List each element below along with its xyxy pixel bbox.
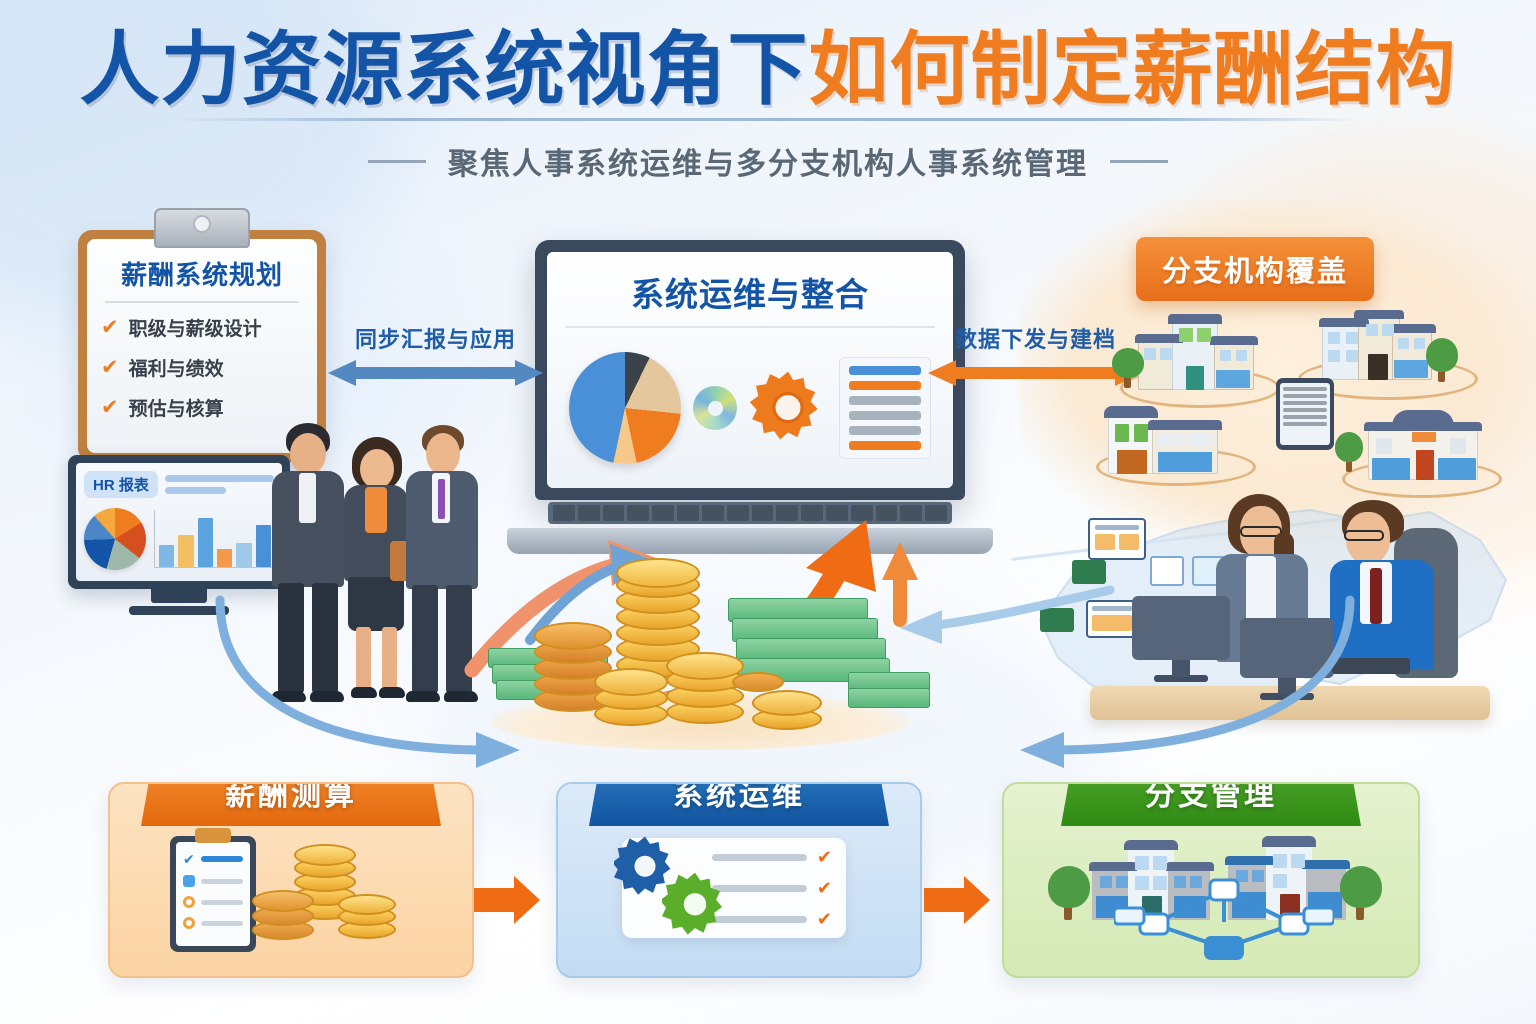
checkbox [183, 875, 195, 887]
window [1414, 338, 1425, 349]
roof [1104, 406, 1158, 418]
roof [1354, 310, 1404, 319]
branch-building [1322, 310, 1432, 380]
roof [1148, 420, 1222, 430]
sign [1412, 432, 1436, 442]
window [1394, 360, 1428, 378]
tree-foliage [1426, 338, 1458, 372]
window [1197, 328, 1211, 342]
list-row [849, 411, 921, 420]
window [1216, 370, 1250, 388]
window [1158, 452, 1212, 472]
tablet-screen [1280, 383, 1330, 445]
window [1328, 332, 1340, 344]
list-row [201, 900, 243, 905]
window [1366, 324, 1378, 336]
list-item [183, 917, 243, 929]
list-row [849, 441, 921, 450]
clipboard-item-label: 福利与绩效 [129, 354, 224, 381]
arrow-shaft [924, 888, 966, 912]
list-row [1283, 387, 1327, 391]
roof [1124, 840, 1178, 850]
window [1450, 438, 1466, 454]
list-row [1283, 415, 1327, 419]
disc-chart [693, 386, 737, 430]
window [1346, 332, 1358, 344]
panel-title: 分支管理 [1145, 782, 1277, 812]
branch-badge-label: 分支机构覆盖 [1162, 256, 1348, 288]
check-icon: ✔ [817, 910, 832, 928]
list-row [1283, 394, 1327, 398]
page-title-accent: 如何制定薪酬结构 [809, 25, 1457, 114]
coin-stack [666, 652, 744, 724]
check-icon: ✔ [817, 879, 832, 897]
clipboard-item-label: 预估与核算 [129, 394, 224, 421]
coin-stack [338, 894, 396, 942]
roof [1135, 334, 1183, 343]
window [1236, 350, 1247, 361]
panel-system-ops[interactable]: 系统运维 ✔ ✔ ✔ [556, 782, 922, 978]
list-row [849, 381, 921, 390]
head [290, 433, 326, 475]
arrow-head-right [515, 360, 543, 386]
window [1376, 438, 1392, 454]
branch-tablet [1276, 378, 1334, 450]
panel-compensation[interactable]: 薪酬测算 ✔ [108, 782, 474, 978]
clipboard-clip-icon [195, 828, 231, 843]
window [1291, 854, 1305, 868]
list-item: ✔ [712, 848, 832, 866]
panel-title: 薪酬测算 [225, 782, 357, 812]
window [1382, 324, 1394, 336]
roof [1388, 324, 1436, 333]
tree-foliage [1048, 866, 1090, 908]
arrow-shaft [474, 888, 516, 912]
list-row [849, 366, 921, 375]
window [1273, 854, 1287, 868]
door [1186, 366, 1204, 390]
window [1135, 856, 1149, 870]
panel-header: 系统运维 [589, 782, 889, 826]
window [1160, 348, 1172, 360]
left-connector: 同步汇报与应用 [328, 322, 543, 386]
roof [1166, 862, 1214, 871]
check-icon: ✔ [817, 848, 832, 866]
window [1188, 434, 1212, 446]
list-row [849, 396, 921, 405]
network-diagram [1114, 878, 1334, 962]
gear-icon [749, 367, 827, 450]
list-row [712, 854, 807, 861]
arrow-head-left [928, 360, 956, 386]
coin-top [616, 558, 700, 588]
roof [1319, 318, 1369, 327]
coin-top [534, 622, 612, 650]
page-header: 人力资源系统视角下如何制定薪酬结构 聚焦人事系统运维与多分支机构人事系统管理 [0, 28, 1536, 183]
window [1328, 350, 1340, 362]
subtitle-dash-right [1110, 160, 1168, 163]
window [1179, 328, 1193, 342]
list-item: ✔ [712, 879, 832, 897]
subtitle-row: 聚焦人事系统运维与多分支机构人事系统管理 [0, 139, 1536, 183]
tree-foliage [1112, 348, 1144, 378]
coin-top [666, 652, 744, 680]
laptop-screen: 系统运维与整合 [547, 252, 953, 488]
laptop-screen-title: 系统运维与整合 [565, 268, 935, 316]
list-row [201, 856, 243, 862]
tree-foliage [1340, 866, 1382, 908]
list-item: ✔ 职级与薪级设计 [101, 314, 303, 341]
laptop-divider [565, 326, 935, 328]
arrow-head-icon [964, 876, 990, 924]
laptop-screen-body [565, 340, 935, 476]
panel-header: 薪酬测算 [141, 782, 441, 826]
window [1134, 424, 1148, 442]
coin [732, 672, 784, 692]
radio [183, 896, 195, 908]
page-subtitle: 聚焦人事系统运维与多分支机构人事系统管理 [448, 139, 1088, 183]
branch-building [1108, 402, 1218, 474]
list-row [1283, 408, 1327, 412]
coin-top [294, 844, 356, 866]
arrow-shaft [356, 367, 515, 379]
pie-chart [569, 352, 681, 464]
roof [1168, 314, 1222, 324]
roof [1262, 836, 1316, 847]
panel-title: 系统运维 [673, 782, 805, 812]
radio [183, 917, 195, 929]
window [1158, 434, 1182, 446]
arrow-head-icon [514, 876, 540, 924]
coin-top [594, 668, 668, 696]
double-arrow-icon [328, 360, 543, 386]
list-row [201, 921, 243, 926]
list-item [183, 875, 243, 887]
panel-branch-mgmt[interactable]: 分支管理 [1002, 782, 1420, 978]
list-item: ✔ [183, 852, 243, 866]
panel-artwork: ✔ ✔ ✔ [558, 826, 920, 966]
coin-stack [252, 888, 314, 942]
clipboard-divider [105, 301, 299, 303]
list-item: ✔ 福利与绩效 [101, 354, 303, 381]
roof [1210, 336, 1258, 345]
window [1398, 338, 1409, 349]
check-icon: ✔ [101, 317, 119, 338]
branch-coverage-badge: 分支机构覆盖 [1136, 237, 1374, 301]
panel-artwork [1004, 826, 1418, 966]
roof [1225, 856, 1275, 865]
tree-foliage [1335, 432, 1363, 462]
roof [1302, 860, 1350, 869]
check-icon: ✔ [183, 852, 195, 866]
panel-header: 分支管理 [1061, 782, 1361, 826]
list-item [183, 896, 243, 908]
roof [1364, 422, 1482, 431]
window [1144, 348, 1156, 360]
window [1100, 876, 1112, 888]
window [1115, 424, 1129, 442]
window [1153, 856, 1167, 870]
coin-top [338, 894, 396, 915]
gear-icon [662, 870, 728, 941]
check-icon: ✔ [101, 357, 119, 378]
door [1368, 354, 1388, 380]
roof [1089, 862, 1137, 871]
checklist-clipboard-icon: ✔ [170, 836, 256, 952]
clipboard-title: 薪酬系统规划 [101, 255, 303, 292]
branch-building [1138, 314, 1254, 390]
list-item: ✔ [712, 910, 832, 928]
title-underline [173, 118, 1363, 121]
coin-top [752, 690, 822, 716]
coin-top [252, 890, 314, 912]
list-card [839, 357, 931, 459]
head [426, 433, 460, 475]
laptop-lid: 系统运维与整合 [535, 240, 965, 500]
panel-artwork: ✔ [110, 826, 472, 966]
subtitle-dash-left [368, 160, 426, 163]
list-row [1283, 401, 1327, 405]
page-title-primary: 人力资源系统视角下 [80, 25, 809, 114]
page-title: 人力资源系统视角下如何制定薪酬结构 [0, 28, 1536, 112]
clipboard-item-label: 职级与薪级设计 [129, 314, 262, 341]
window [1220, 350, 1231, 361]
window [1346, 350, 1358, 362]
list-row [849, 426, 921, 435]
arrow-head-left [328, 360, 356, 386]
check-icon: ✔ [101, 397, 119, 418]
clipboard-paper: ✔ [176, 842, 250, 946]
coin-stack [594, 660, 668, 726]
list-row [1283, 422, 1327, 426]
compensation-money-illustration [470, 520, 940, 750]
banknote-stack [848, 688, 930, 708]
list-row [201, 879, 243, 884]
left-connector-label: 同步汇报与应用 [328, 322, 543, 354]
clipboard-clip-icon [154, 208, 250, 248]
